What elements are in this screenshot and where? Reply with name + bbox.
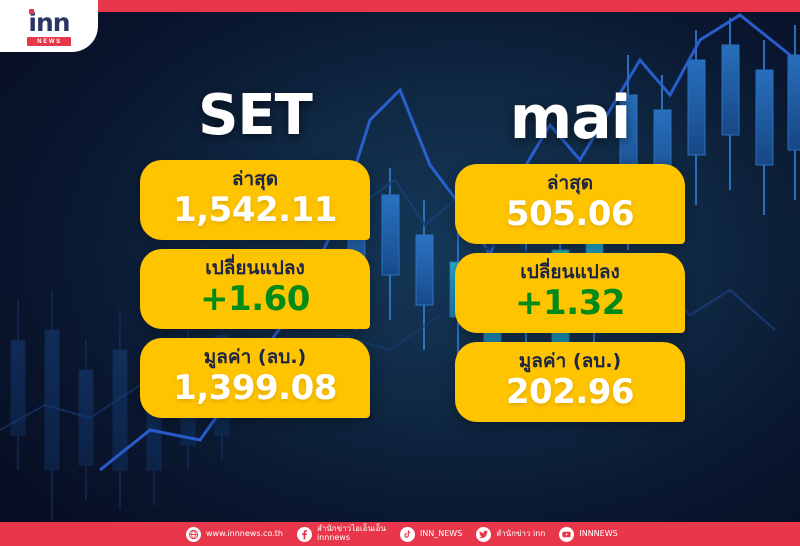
logo-dot-icon bbox=[29, 9, 34, 14]
mai-label-change: เปลี่ยนแปลง bbox=[465, 262, 675, 284]
footer-item-twitter[interactable]: สำนักข่าว inn bbox=[476, 527, 545, 542]
index-title-mai: mai bbox=[455, 88, 685, 148]
top-accent-bar bbox=[0, 0, 800, 12]
footer-label-tiktok: INN_NEWS bbox=[420, 530, 462, 539]
set-value-value: 1,399.08 bbox=[150, 369, 360, 407]
footer-item-youtube[interactable]: INNNEWS bbox=[559, 527, 617, 542]
index-columns: SET ล่าสุด 1,542.11 เปลี่ยนแปลง +1.60 มู… bbox=[0, 0, 800, 522]
logo-news-badge: NEWS bbox=[27, 37, 70, 46]
footer-item-website[interactable]: www.innnews.co.th bbox=[186, 527, 283, 542]
mai-value-value: 202.96 bbox=[465, 373, 675, 411]
globe-icon bbox=[186, 527, 201, 542]
set-card-last: ล่าสุด 1,542.11 bbox=[140, 160, 370, 240]
footer-label-facebook-line2: innnews bbox=[317, 534, 386, 543]
mai-card-value: มูลค่า (ลบ.) 202.96 bbox=[455, 342, 685, 422]
footer-label-facebook: สำนักข่าวไอเอ็นเอ็น innnews bbox=[317, 525, 386, 543]
footer-label-twitter: สำนักข่าว inn bbox=[496, 530, 545, 539]
index-column-set: SET ล่าสุด 1,542.11 เปลี่ยนแปลง +1.60 มู… bbox=[140, 88, 370, 427]
logo-text: inn bbox=[28, 8, 69, 37]
mai-card-last: ล่าสุด 505.06 bbox=[455, 164, 685, 244]
mai-label-last: ล่าสุด bbox=[465, 173, 675, 195]
tiktok-icon bbox=[400, 527, 415, 542]
stock-summary-graphic: inn NEWS SET ล่าสุด 1,542.11 เปลี่ยนแปลง… bbox=[0, 0, 800, 546]
set-card-change: เปลี่ยนแปลง +1.60 bbox=[140, 249, 370, 329]
set-label-change: เปลี่ยนแปลง bbox=[150, 258, 360, 280]
facebook-icon bbox=[297, 527, 312, 542]
mai-card-change: เปลี่ยนแปลง +1.32 bbox=[455, 253, 685, 333]
twitter-icon bbox=[476, 527, 491, 542]
set-card-value: มูลค่า (ลบ.) 1,399.08 bbox=[140, 338, 370, 418]
mai-label-value: มูลค่า (ลบ.) bbox=[465, 351, 675, 373]
youtube-icon bbox=[559, 527, 574, 542]
set-label-value: มูลค่า (ลบ.) bbox=[150, 347, 360, 369]
mai-value-change: +1.32 bbox=[465, 284, 675, 322]
footer-item-tiktok[interactable]: INN_NEWS bbox=[400, 527, 462, 542]
footer-social-bar: www.innnews.co.th สำนักข่าวไอเอ็นเอ็น in… bbox=[0, 522, 800, 546]
logo-wordmark: inn bbox=[28, 10, 69, 35]
index-title-set: SET bbox=[140, 88, 370, 144]
inn-news-logo: inn NEWS bbox=[0, 0, 98, 52]
footer-item-facebook[interactable]: สำนักข่าวไอเอ็นเอ็น innnews bbox=[297, 525, 386, 543]
footer-label-website: www.innnews.co.th bbox=[206, 530, 283, 539]
set-label-last: ล่าสุด bbox=[150, 169, 360, 191]
mai-value-last: 505.06 bbox=[465, 195, 675, 233]
set-value-last: 1,542.11 bbox=[150, 191, 360, 229]
index-column-mai: mai ล่าสุด 505.06 เปลี่ยนแปลง +1.32 มูลค… bbox=[455, 88, 685, 431]
set-value-change: +1.60 bbox=[150, 280, 360, 318]
footer-label-youtube: INNNEWS bbox=[579, 530, 617, 539]
